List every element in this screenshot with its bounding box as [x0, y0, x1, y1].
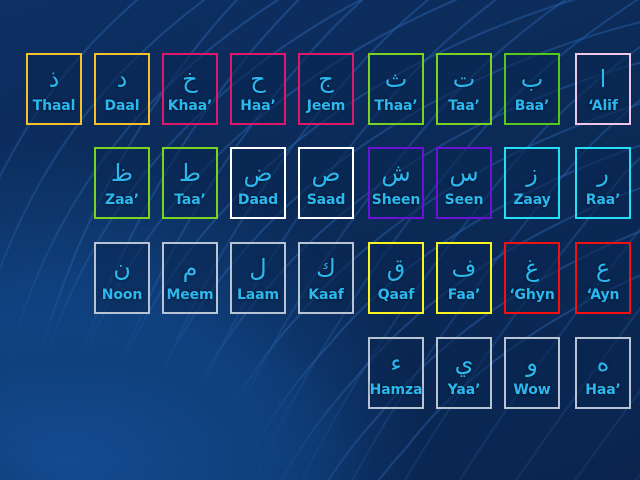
arabic-glyph: ث: [385, 59, 408, 99]
letter-card[interactable]: يYaa’: [436, 337, 492, 409]
letter-card[interactable]: وWow: [504, 337, 560, 409]
letter-name-label: Noon: [102, 288, 143, 302]
arabic-glyph: ر: [597, 153, 609, 193]
letter-name-label: ‘Ayn: [587, 288, 620, 302]
letter-card[interactable]: ع‘Ayn: [575, 242, 631, 314]
letter-card[interactable]: صSaad: [298, 147, 354, 219]
arabic-glyph: ب: [521, 59, 544, 99]
letter-name-label: Saad: [307, 193, 346, 207]
letter-name-label: Faa’: [448, 288, 481, 302]
letter-name-label: Baa’: [515, 99, 549, 113]
letter-card[interactable]: بBaa’: [504, 53, 560, 125]
letter-card[interactable]: زZaay: [504, 147, 560, 219]
letter-name-label: Wow: [513, 383, 550, 397]
arabic-glyph: ص: [311, 153, 340, 193]
letter-card[interactable]: تTaa’: [436, 53, 492, 125]
letter-name-label: Khaa’: [168, 99, 213, 113]
letter-card[interactable]: قQaaf: [368, 242, 424, 314]
letter-card[interactable]: ءHamza: [368, 337, 424, 409]
arabic-glyph: ظ: [111, 153, 133, 193]
letter-name-label: Thaa’: [374, 99, 417, 113]
letter-card[interactable]: مMeem: [162, 242, 218, 314]
arabic-glyph: ح: [250, 59, 266, 99]
arabic-glyph: ع: [596, 248, 610, 288]
letter-name-label: Seen: [445, 193, 484, 207]
letter-card[interactable]: كKaaf: [298, 242, 354, 314]
letter-name-label: Hamza: [370, 383, 423, 397]
letter-board: ذThaalدDaalخKhaa’حHaa’جJeemثThaa’تTaa’بB…: [0, 0, 640, 480]
letter-name-label: Thaal: [33, 99, 76, 113]
letter-name-label: ‘Ghyn: [509, 288, 554, 302]
arabic-glyph: ك: [316, 248, 336, 288]
arabic-glyph: ت: [453, 59, 476, 99]
letter-name-label: Kaaf: [308, 288, 343, 302]
arabic-glyph: ذ: [49, 59, 60, 99]
arabic-glyph: ف: [452, 248, 477, 288]
letter-card[interactable]: طTaa’: [162, 147, 218, 219]
arabic-glyph: ض: [243, 153, 272, 193]
letter-name-label: Raa’: [586, 193, 621, 207]
letter-card[interactable]: جJeem: [298, 53, 354, 125]
arabic-glyph: ق: [387, 248, 406, 288]
letter-name-label: Yaa’: [448, 383, 481, 397]
letter-name-label: Daad: [238, 193, 278, 207]
arabic-glyph: د: [117, 59, 128, 99]
letter-name-label: Zaa’: [105, 193, 139, 207]
arabic-glyph: ط: [179, 153, 201, 193]
letter-name-label: ‘Alif: [588, 99, 618, 113]
letter-name-label: Haa’: [240, 99, 276, 113]
letter-card[interactable]: شSheen: [368, 147, 424, 219]
letter-card[interactable]: نNoon: [94, 242, 150, 314]
letter-name-label: Meem: [166, 288, 213, 302]
letter-card[interactable]: حHaa’: [230, 53, 286, 125]
letter-name-label: Haa’: [585, 383, 621, 397]
arabic-glyph: س: [449, 153, 478, 193]
letter-card[interactable]: دDaal: [94, 53, 150, 125]
letter-card[interactable]: فFaa’: [436, 242, 492, 314]
letter-card[interactable]: ثThaa’: [368, 53, 424, 125]
letter-card[interactable]: لLaam: [230, 242, 286, 314]
letter-card[interactable]: هHaa’: [575, 337, 631, 409]
letter-name-label: Jeem: [307, 99, 345, 113]
arabic-glyph: ن: [113, 248, 131, 288]
arabic-glyph: و: [526, 343, 538, 383]
arabic-glyph: ا: [600, 59, 607, 99]
letter-card[interactable]: سSeen: [436, 147, 492, 219]
letter-name-label: Qaaf: [378, 288, 415, 302]
letter-card[interactable]: ذThaal: [26, 53, 82, 125]
arabic-glyph: خ: [182, 59, 198, 99]
letter-name-label: Daal: [105, 99, 140, 113]
letter-card[interactable]: خKhaa’: [162, 53, 218, 125]
arabic-glyph: ل: [249, 248, 266, 288]
arabic-glyph: ي: [455, 343, 474, 383]
letter-card[interactable]: ضDaad: [230, 147, 286, 219]
letter-name-label: Laam: [237, 288, 279, 302]
arabic-glyph: ه: [597, 343, 610, 383]
arabic-glyph: م: [183, 248, 198, 288]
arabic-glyph: ز: [526, 153, 538, 193]
arabic-glyph: ج: [318, 59, 334, 99]
letter-name-label: Sheen: [372, 193, 421, 207]
arabic-glyph: ء: [390, 343, 401, 383]
letter-card[interactable]: ا‘Alif: [575, 53, 631, 125]
letter-card[interactable]: ظZaa’: [94, 147, 150, 219]
letter-name-label: Taa’: [448, 99, 480, 113]
letter-card[interactable]: غ‘Ghyn: [504, 242, 560, 314]
letter-name-label: Zaay: [513, 193, 550, 207]
letter-name-label: Taa’: [174, 193, 206, 207]
arabic-glyph: ش: [381, 153, 410, 193]
letter-card[interactable]: رRaa’: [575, 147, 631, 219]
arabic-glyph: غ: [525, 248, 539, 288]
